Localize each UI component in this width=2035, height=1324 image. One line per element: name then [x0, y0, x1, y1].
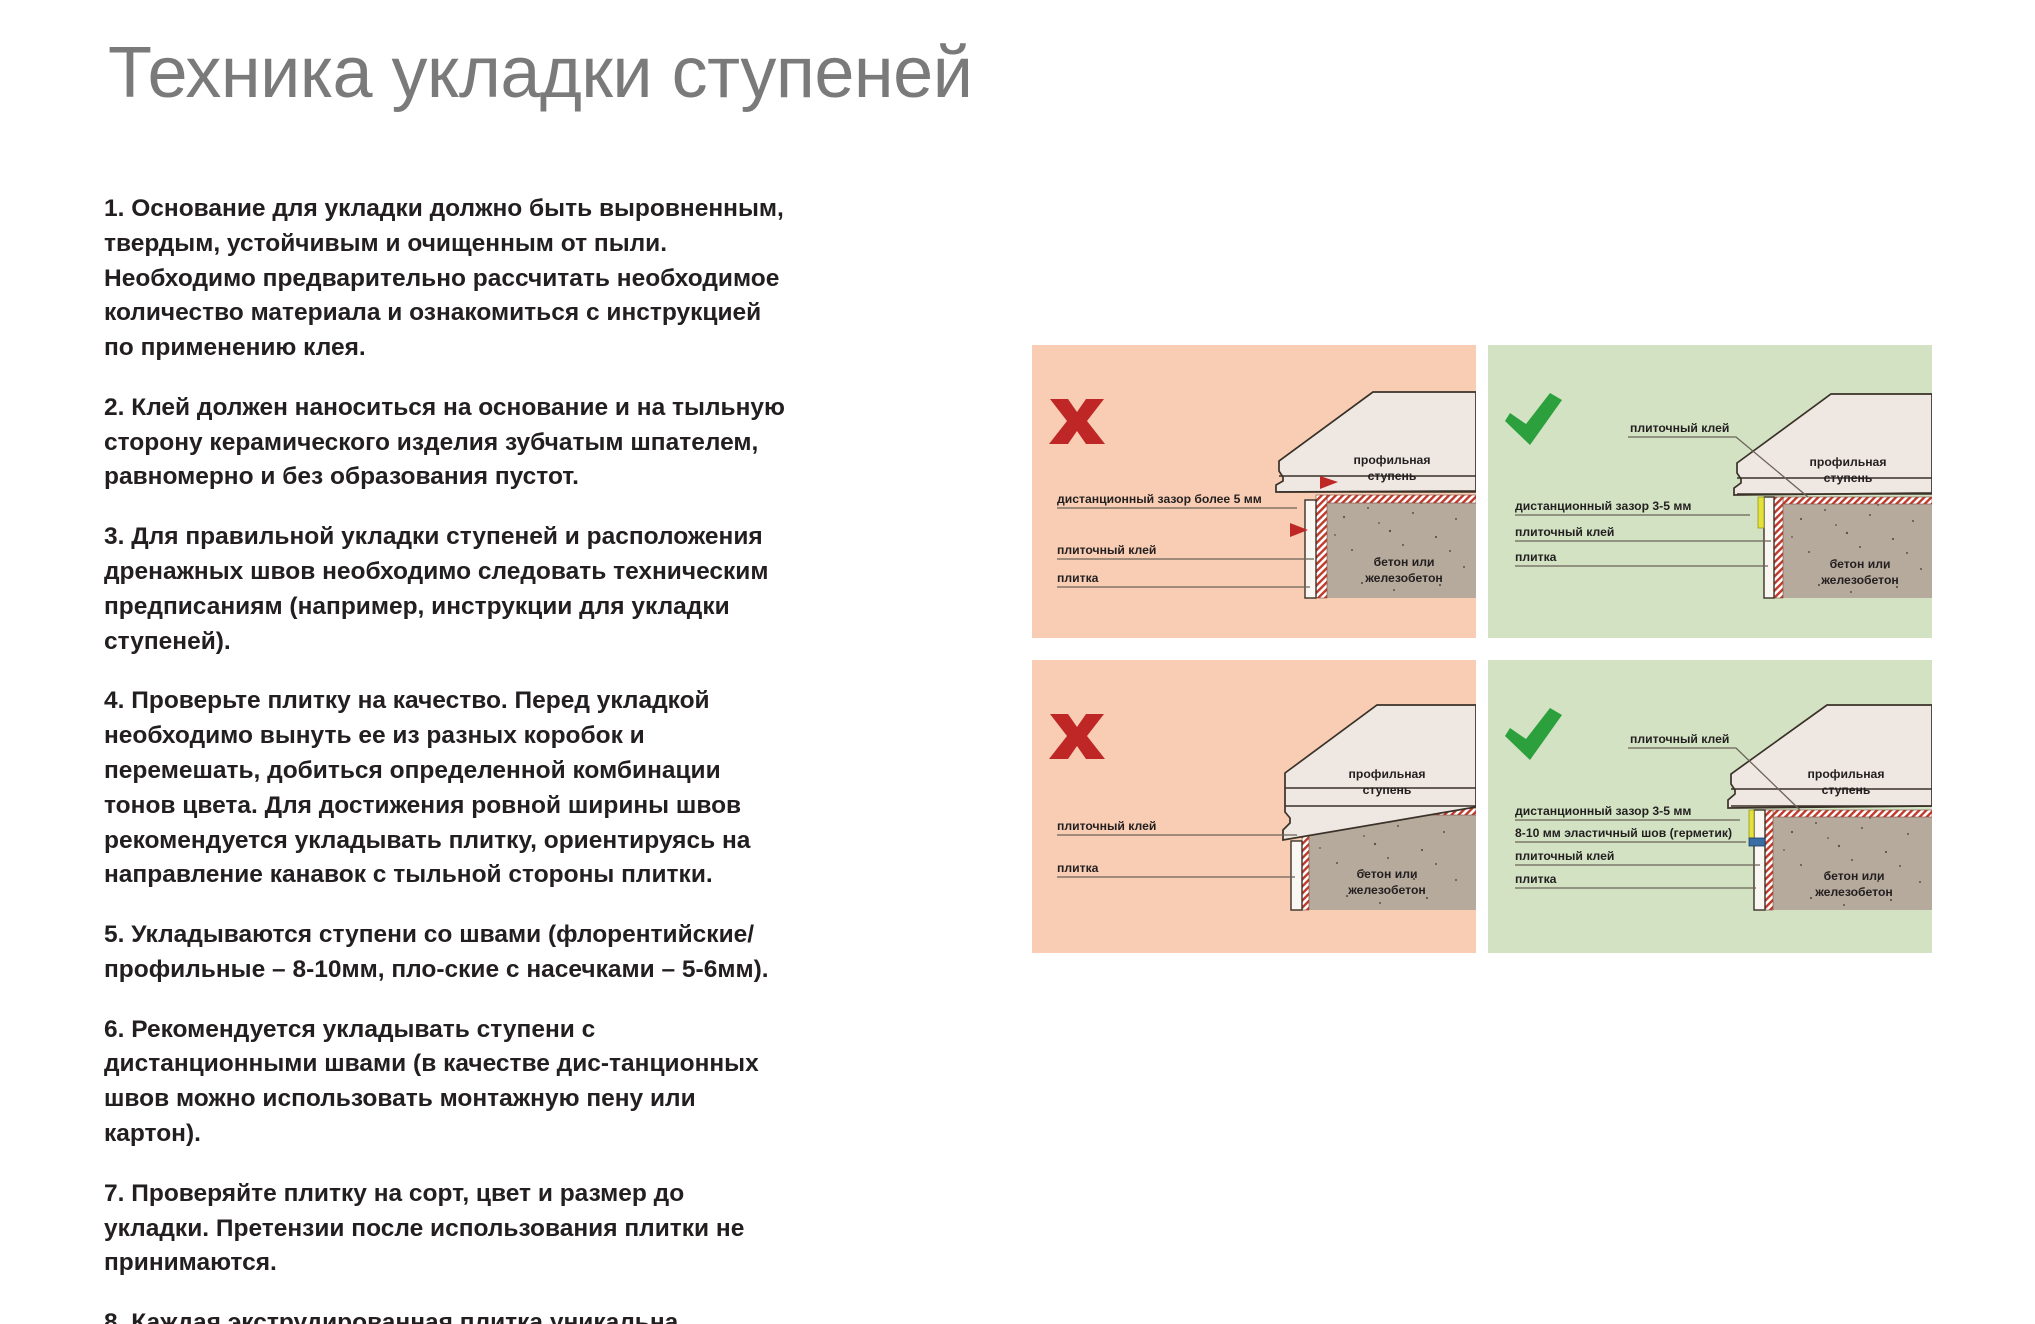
label-elastic-sealant: 8-10 мм эластичный шов (герметик): [1515, 826, 1732, 840]
label-distance-gap: дистанционный зазор более 5 мм: [1057, 492, 1262, 506]
label-tile: плитка: [1515, 872, 1557, 886]
diagram-grid: дистанционный зазор более 5 мм плиточный…: [1032, 345, 1932, 975]
label-distance-gap: дистанционный зазор 3-5 мм: [1515, 804, 1691, 818]
label-profile-step-line2: ступень: [1822, 783, 1871, 797]
instruction-item-1: 1. Основание для укладки должно быть выр…: [104, 192, 794, 366]
label-profile-step-line1: профильная: [1354, 453, 1431, 467]
cross-icon: [1049, 714, 1105, 759]
instruction-item-5: 5. Укладываются ступени со швами (флорен…: [104, 918, 794, 988]
label-profile-step-line2: ступень: [1363, 783, 1412, 797]
label-concrete-line1: бетон или: [1830, 557, 1891, 571]
instruction-item-6: 6. Рекомендуется укладывать ступени с ди…: [104, 1013, 794, 1152]
diagram-panel-bottom-left: плиточный клей плитка профильная ступень…: [1032, 660, 1476, 953]
label-concrete-line2: железобетон: [1814, 885, 1893, 899]
label-tile-glue: плиточный клей: [1057, 819, 1156, 833]
label-tile-glue: плиточный клей: [1515, 525, 1614, 539]
label-concrete-line2: железобетон: [1347, 883, 1426, 897]
instruction-item-8: 8. Каждая экструдированная плитка уникал…: [104, 1306, 794, 1324]
label-profile-step-line1: профильная: [1808, 767, 1885, 781]
check-icon: [1505, 393, 1562, 445]
label-concrete-line1: бетон или: [1357, 867, 1418, 881]
check-icon: [1505, 708, 1562, 760]
elastic-sealant-layer: [1749, 838, 1765, 846]
label-tile: плитка: [1057, 571, 1099, 585]
label-concrete-line2: железобетон: [1364, 571, 1443, 585]
page-root: Техника укладки ступеней 1. Основание дл…: [0, 0, 2035, 1324]
diagram-panel-bottom-right: плиточный клей дистанционный зазор 3-5 м…: [1488, 660, 1932, 953]
page-title: Техника укладки ступеней: [108, 30, 972, 116]
label-tile-glue-top: плиточный клей: [1630, 732, 1729, 746]
label-profile-step-line2: ступень: [1368, 469, 1417, 483]
label-tile: плитка: [1057, 861, 1099, 875]
label-profile-step-line1: профильная: [1349, 767, 1426, 781]
label-concrete-line1: бетон или: [1374, 555, 1435, 569]
instruction-item-7: 7. Проверяйте плитку на сорт, цвет и раз…: [104, 1177, 794, 1281]
instruction-item-4: 4. Проверьте плитку на качество. Перед у…: [104, 684, 794, 893]
label-tile-glue: плиточный клей: [1057, 543, 1156, 557]
label-profile-step-line1: профильная: [1810, 455, 1887, 469]
label-tile: плитка: [1515, 550, 1557, 564]
spacer-gap-layer: [1758, 497, 1764, 528]
label-concrete-line2: железобетон: [1820, 573, 1899, 587]
label-tile-glue: плиточный клей: [1515, 849, 1614, 863]
label-distance-gap: дистанционный зазор 3-5 мм: [1515, 499, 1691, 513]
label-profile-step-line2: ступень: [1824, 471, 1873, 485]
label-concrete-line1: бетон или: [1824, 869, 1885, 883]
label-tile-glue-top: плиточный клей: [1630, 421, 1729, 435]
instruction-item-3: 3. Для правильной укладки ступеней и рас…: [104, 520, 794, 659]
instructions-list: 1. Основание для укладки должно быть выр…: [104, 192, 794, 1324]
spacer-gap-layer: [1749, 810, 1754, 838]
instruction-item-2: 2. Клей должен наноситься на основание и…: [104, 391, 794, 495]
diagram-panel-top-right: плиточный клей дистанционный зазор 3-5 м…: [1488, 345, 1932, 638]
cross-icon: [1049, 399, 1105, 444]
diagram-panel-top-left: дистанционный зазор более 5 мм плиточный…: [1032, 345, 1476, 638]
